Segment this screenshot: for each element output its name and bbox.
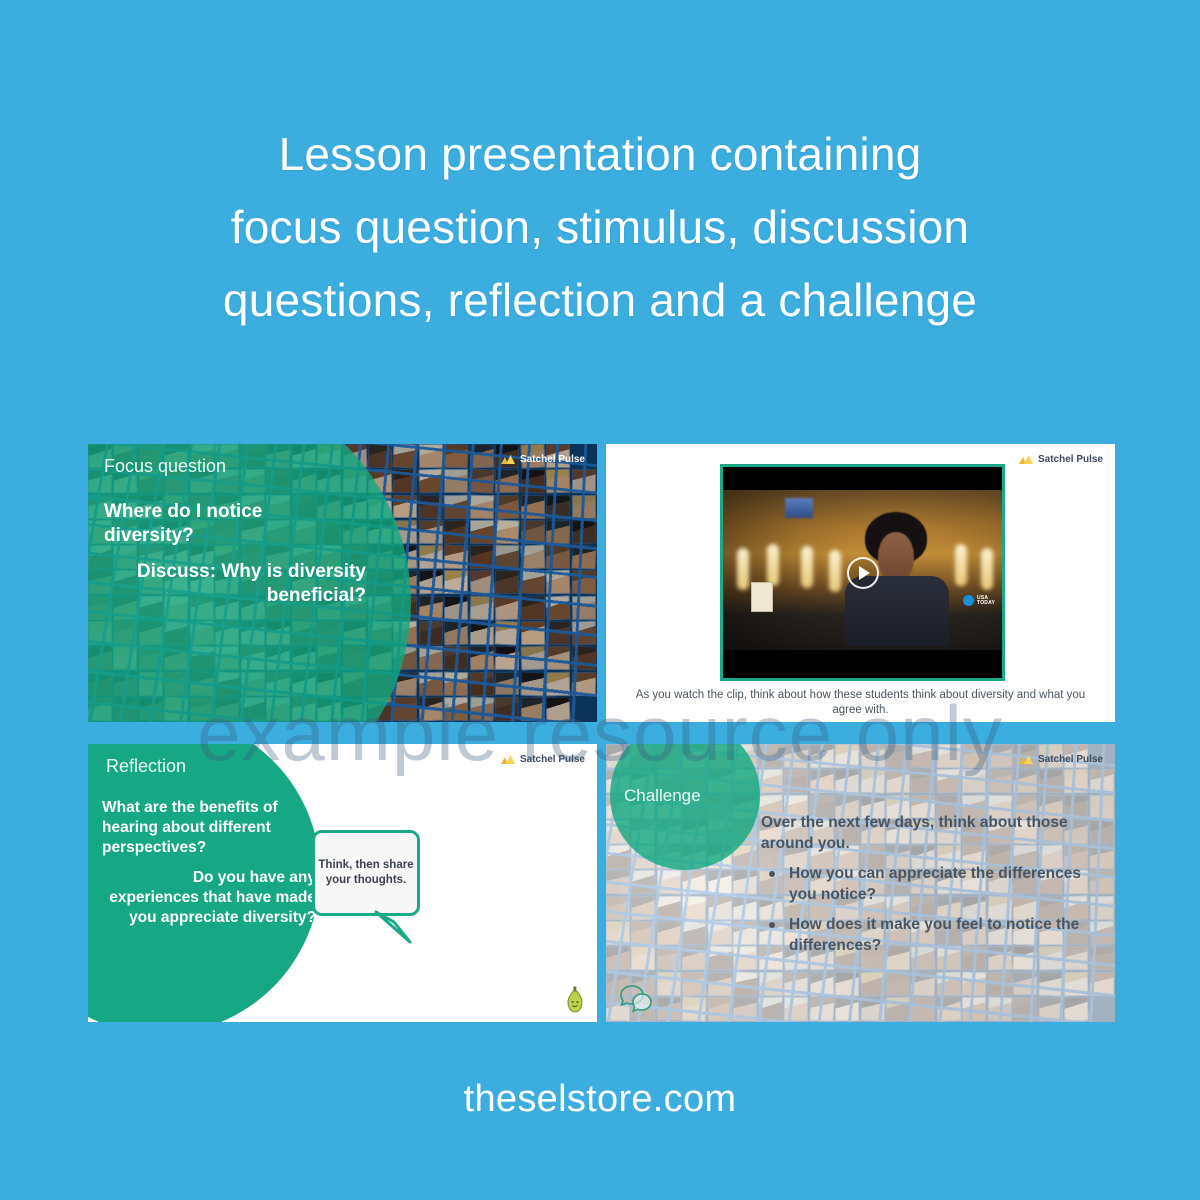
slide-stimulus-video[interactable]: Satchel Pulse U (606, 444, 1115, 722)
slide-challenge[interactable]: Challenge Over the next few days, think … (606, 744, 1115, 1022)
video-thumbnail: USA TODAY (723, 467, 1002, 678)
portrait-face (878, 532, 914, 582)
page-title-line-3: questions, reflection and a challenge (0, 264, 1200, 337)
brand-logo-satchel-pulse: Satchel Pulse (501, 754, 585, 765)
play-button[interactable] (847, 557, 879, 589)
reflection-question-secondary: Do you have any experiences that have ma… (102, 868, 316, 928)
mountain-logo-icon (501, 455, 515, 465)
mountain-logo-icon (1019, 755, 1033, 765)
mountain-logo-icon (501, 755, 515, 765)
decor-lamp (767, 544, 779, 586)
brand-name-label: Satchel Pulse (1038, 454, 1103, 465)
challenge-bullet-item: How you can appreciate the differences y… (761, 863, 1081, 905)
focus-question-discuss: Discuss: Why is diversity beneficial? (104, 560, 366, 608)
slide-kicker-reflection: Reflection (106, 756, 186, 777)
stimulus-caption: As you watch the clip, think about how t… (634, 688, 1087, 718)
speech-bubble: Think, then share your thoughts. (312, 830, 427, 950)
decor-lamp (829, 550, 841, 592)
decor-lamp (737, 548, 749, 590)
brand-name-label: Satchel Pulse (520, 454, 585, 465)
challenge-lead-text: Over the next few days, think about thos… (761, 812, 1081, 854)
slide-focus-question[interactable]: Focus question Where do I notice diversi… (88, 444, 597, 722)
decor-lamp (981, 548, 993, 590)
decor-monitor (785, 498, 813, 518)
page-title-line-1: Lesson presentation containing (0, 118, 1200, 191)
slide-kicker-challenge: Challenge (624, 786, 701, 806)
video-player[interactable]: USA TODAY (720, 464, 1005, 681)
brand-logo-satchel-pulse: Satchel Pulse (1019, 454, 1103, 465)
challenge-bullet-list: How you can appreciate the differences y… (761, 863, 1081, 956)
pear-mascot-icon (565, 986, 585, 1014)
decor-picture-frame (751, 582, 773, 612)
footer-site-url: theselstore.com (0, 1078, 1200, 1121)
challenge-body: Over the next few days, think about thos… (761, 812, 1081, 965)
usa-today-watermark: USA TODAY (963, 595, 995, 606)
usa-today-dot-icon (963, 595, 974, 606)
speech-bubble-text: Think, then share your thoughts. (315, 858, 417, 888)
play-triangle-icon (859, 566, 870, 580)
mountain-logo-icon (1019, 455, 1033, 465)
usa-today-line-2: TODAY (977, 601, 995, 606)
page-title: Lesson presentation containing focus que… (0, 118, 1200, 337)
brand-logo-satchel-pulse: Satchel Pulse (501, 454, 585, 465)
speech-bubble-tail-icon (374, 910, 412, 944)
brand-name-label: Satchel Pulse (520, 754, 585, 765)
focus-question-primary: Where do I notice diversity? (104, 500, 354, 548)
decor-lamp (955, 544, 967, 586)
speech-bubble-box: Think, then share your thoughts. (312, 830, 420, 916)
reflection-question-primary: What are the benefits of hearing about d… (102, 798, 316, 858)
decor-lamp (801, 546, 813, 588)
brand-logo-satchel-pulse: Satchel Pulse (1019, 754, 1103, 765)
slide-kicker-focus-question: Focus question (104, 456, 226, 477)
slide-reflection[interactable]: Reflection What are the benefits of hear… (88, 744, 597, 1022)
brand-name-label: Satchel Pulse (1038, 754, 1103, 765)
challenge-bullet-item: How does it make you feel to notice the … (761, 914, 1081, 956)
speech-bubbles-icon (618, 984, 656, 1014)
page-title-line-2: focus question, stimulus, discussion (0, 191, 1200, 264)
